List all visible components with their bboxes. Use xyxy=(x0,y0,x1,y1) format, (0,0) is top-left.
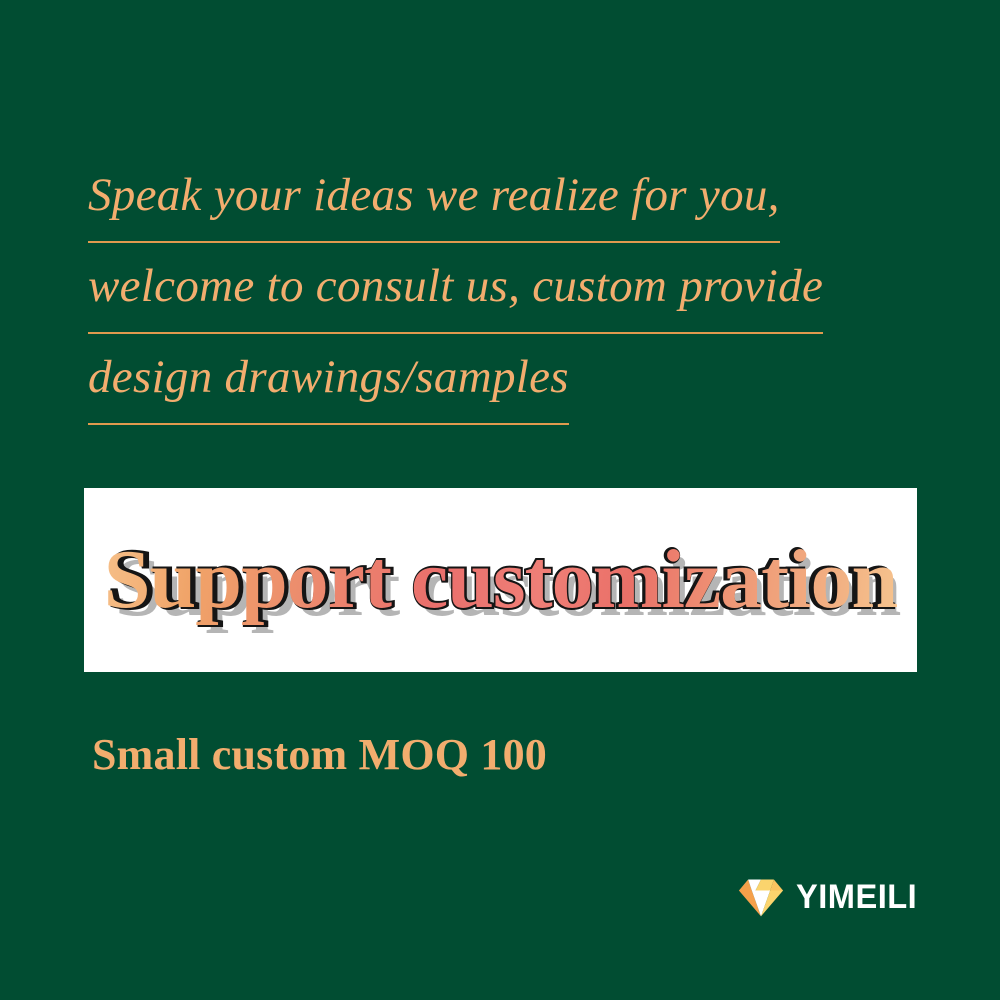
wordart-support-customization: Support customization xyxy=(104,533,897,626)
headline-line-3: design drawings/samples xyxy=(88,334,918,425)
headline-line-3-text: design drawings/samples xyxy=(88,334,569,425)
headline-block: Speak your ideas we realize for you, wel… xyxy=(88,152,918,425)
diamond-gem-icon xyxy=(738,874,784,920)
promo-poster: Speak your ideas we realize for you, wel… xyxy=(0,0,1000,1000)
headline-line-1: Speak your ideas we realize for you, xyxy=(88,152,918,243)
brand-name: YIMEILI xyxy=(796,880,917,914)
brand-logo: YIMEILI xyxy=(738,874,922,920)
moq-text: Small custom MOQ 100 xyxy=(92,733,547,777)
headline-line-2: welcome to consult us, custom provide xyxy=(88,243,918,334)
headline-line-2-text: welcome to consult us, custom provide xyxy=(88,243,823,334)
headline-line-1-text: Speak your ideas we realize for you, xyxy=(88,152,780,243)
wordart-banner: Support customization Support customizat… xyxy=(84,488,917,672)
wordart-wrapper: Support customization Support customizat… xyxy=(104,538,897,622)
